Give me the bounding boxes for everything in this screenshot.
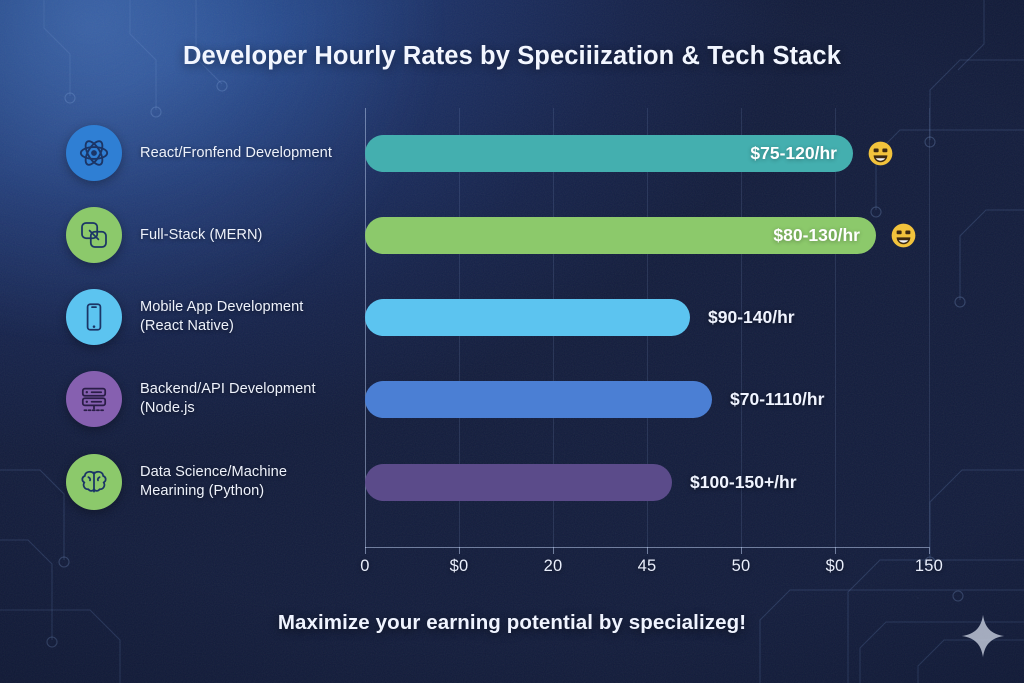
category-label: Mobile App Development(React Native): [140, 298, 365, 336]
gridline: [929, 108, 930, 547]
category-label-line: (Node.js: [140, 399, 365, 418]
axis-tick: [365, 547, 366, 554]
x-axis-tick-label: 150: [915, 557, 943, 576]
bar[interactable]: [365, 381, 712, 418]
category-label-line: Mobile App Development: [140, 298, 365, 317]
axis-tick: [929, 547, 930, 554]
category-label-line: React/Fronfend Development: [140, 144, 365, 163]
gridline: [835, 108, 836, 547]
category-label-line: Backend/API Development: [140, 380, 365, 399]
bar-value-label: $80-130/hr: [773, 217, 860, 254]
axis-tick: [647, 547, 648, 554]
axis-tick: [741, 547, 742, 554]
category-label: Data Science/MachineMearining (Python): [140, 463, 365, 501]
grinning-face-icon: [868, 141, 893, 166]
x-axis-tick-label: 0: [360, 557, 369, 576]
category-label: React/Fronfend Development: [140, 144, 365, 163]
brain-icon: [66, 454, 122, 510]
sparkle-icon: [960, 613, 1006, 659]
axis-tick: [459, 547, 460, 554]
category-label: Backend/API Development(Node.js: [140, 380, 365, 418]
bar-value-label: $90-140/hr: [708, 299, 795, 336]
bar[interactable]: [365, 464, 672, 501]
x-axis-tick-label: 50: [732, 557, 751, 576]
x-axis-tick-label: 45: [638, 557, 657, 576]
bar[interactable]: $75-120/hr: [365, 135, 853, 172]
category-label: Full-Stack (MERN): [140, 226, 365, 245]
mobile-phone-icon: [66, 289, 122, 345]
category-label-line: Full-Stack (MERN): [140, 226, 365, 245]
bar[interactable]: [365, 299, 690, 336]
axis-tick: [553, 547, 554, 554]
footer-caption: Maximize your earning potential by speci…: [0, 611, 1024, 635]
bar-value-label: $100-150+/hr: [690, 464, 797, 501]
x-axis-tick-label: $0: [826, 557, 845, 576]
grinning-face-icon: [891, 223, 916, 248]
stacked-layers-icon: [66, 207, 122, 263]
category-label-line: Mearining (Python): [140, 482, 365, 501]
server-rack-icon: [66, 371, 122, 427]
x-axis-tick-label: 20: [544, 557, 563, 576]
bar[interactable]: $80-130/hr: [365, 217, 876, 254]
x-axis-tick-label: $0: [450, 557, 469, 576]
category-label-line: (React Native): [140, 317, 365, 336]
react-atom-icon: [66, 125, 122, 181]
category-label-line: Data Science/Machine: [140, 463, 365, 482]
chart-plot-area: 0$0204550$0150 React/Fronfend Developmen…: [0, 0, 1024, 683]
bar-value-label: $70-1110/hr: [730, 381, 824, 418]
axis-tick: [835, 547, 836, 554]
bar-value-label: $75-120/hr: [750, 135, 837, 172]
